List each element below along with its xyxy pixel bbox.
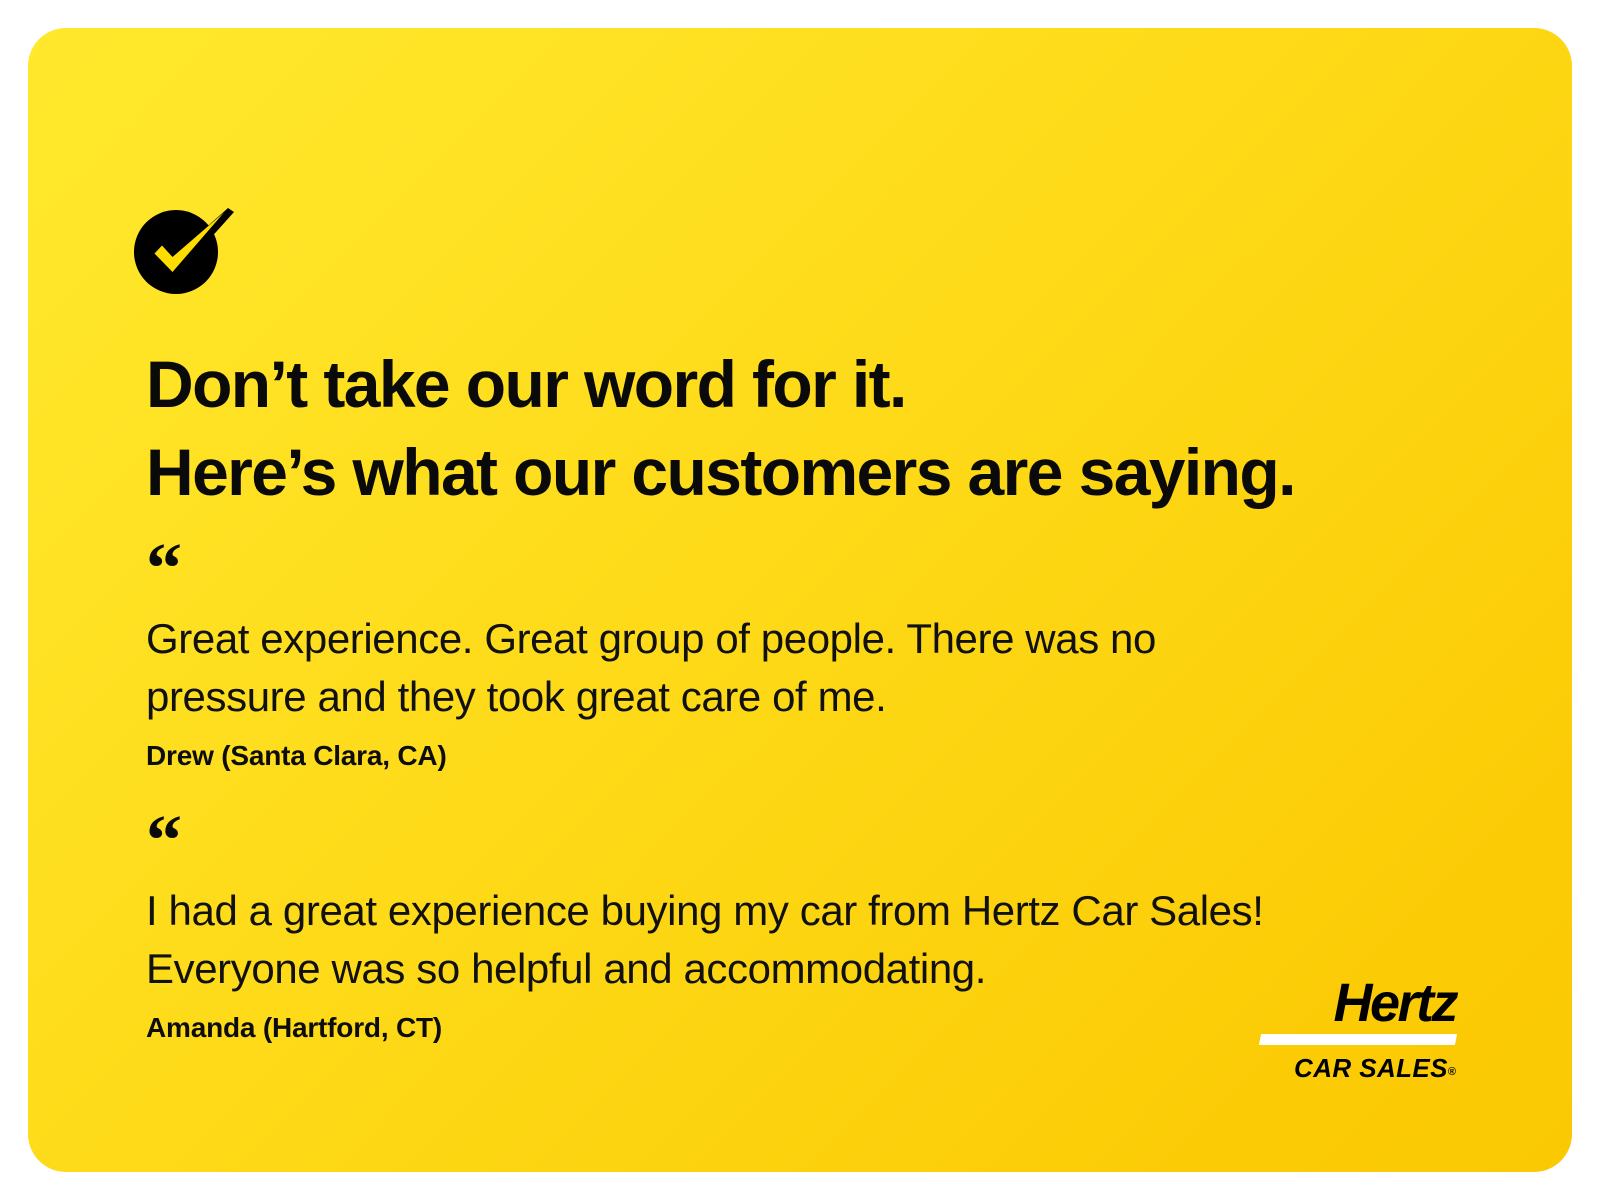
hertz-car-sales-logo: Hertz CAR SALES® <box>1248 975 1456 1086</box>
quote-mark-icon: “ <box>146 820 1486 860</box>
testimonial-quote-line-1: I had a great experience buying my car f… <box>146 882 1486 940</box>
testimonial-attribution: Drew (Santa Clara, CA) <box>146 736 1486 776</box>
page-title: Don’t take our word for it. Here’s what … <box>146 340 1466 516</box>
quote-mark-icon: “ <box>146 548 1486 588</box>
logo-subtitle-text: CAR SALES <box>1294 1053 1448 1083</box>
testimonial-item: “ Great experience. Great group of peopl… <box>146 548 1486 776</box>
logo-wordmark: Hertz <box>1248 975 1456 1031</box>
headline-line-2: Here’s what our customers are saying. <box>146 428 1466 516</box>
testimonial-quote: Great experience. Great group of people.… <box>146 610 1486 726</box>
check-circle-icon <box>124 196 244 304</box>
logo-subtitle: CAR SALES® <box>1248 1054 1456 1086</box>
testimonial-list: “ Great experience. Great group of peopl… <box>146 548 1486 1048</box>
headline-line-1: Don’t take our word for it. <box>146 340 1466 428</box>
testimonial-quote-line-2: pressure and they took great care of me. <box>146 668 1486 726</box>
testimonial-card: Don’t take our word for it. Here’s what … <box>28 28 1572 1172</box>
registered-trademark-icon: ® <box>1448 1066 1456 1078</box>
testimonial-quote-line-1: Great experience. Great group of people.… <box>146 610 1486 668</box>
logo-underline-bar <box>1259 1034 1457 1045</box>
